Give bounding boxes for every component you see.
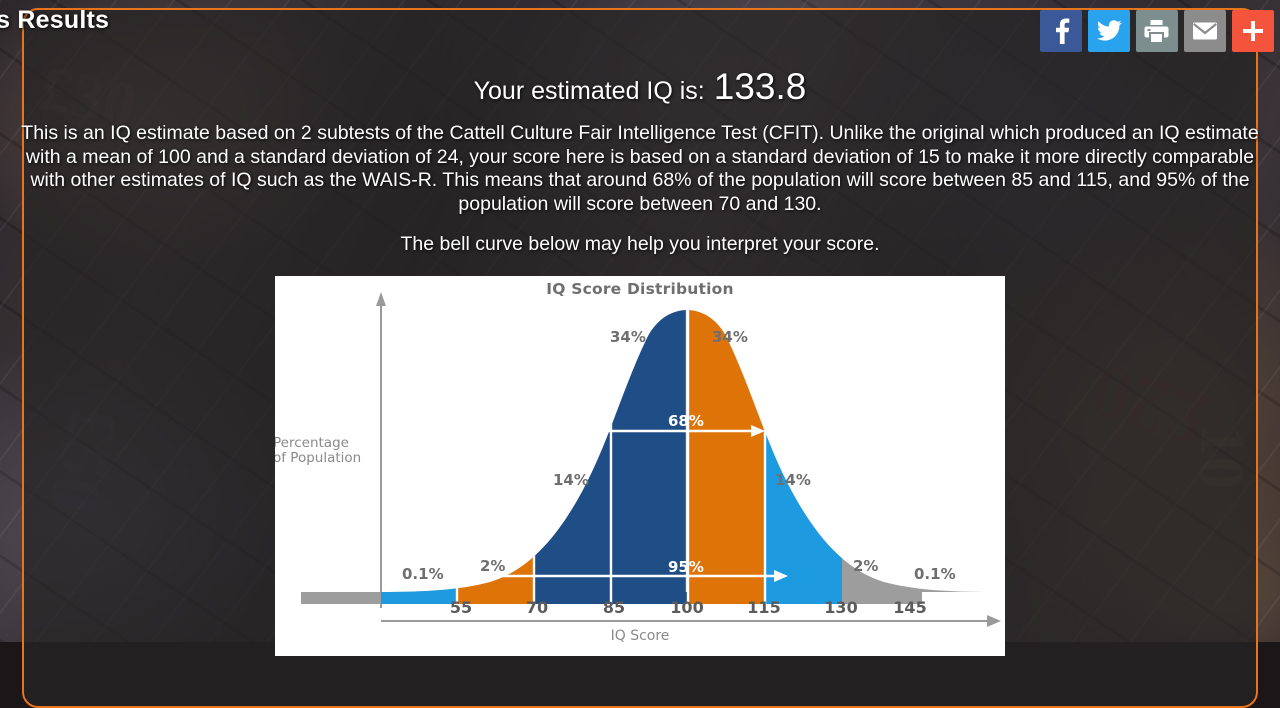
label-14-right: 14%	[775, 471, 811, 489]
label-34-right: 34%	[712, 328, 748, 346]
x-tick-100: 100	[657, 598, 717, 617]
score-value: 133.8	[714, 66, 807, 107]
share-more-button[interactable]	[1232, 10, 1274, 52]
iq-distribution-chart: IQ Score Distribution Percentage of Popu…	[275, 276, 1005, 656]
share-twitter-button[interactable]	[1088, 10, 1130, 52]
band-85-100	[534, 296, 611, 596]
label-68: 68%	[668, 412, 704, 430]
score-label: Your estimated IQ is:	[474, 77, 705, 105]
x-tick-55: 55	[431, 598, 491, 617]
share-facebook-button[interactable]	[1040, 10, 1082, 52]
page-title: 's Results	[0, 6, 109, 35]
x-tick-145: 145	[880, 598, 940, 617]
plus-icon	[1241, 19, 1265, 43]
share-bar	[1040, 10, 1274, 52]
label-34-left: 34%	[610, 328, 646, 346]
label-14-left: 14%	[553, 471, 589, 489]
score-line: Your estimated IQ is:133.8	[0, 66, 1280, 108]
x-tick-70: 70	[507, 598, 567, 617]
label-95: 95%	[668, 558, 704, 576]
band-70-85	[457, 296, 534, 596]
band-below-55	[335, 296, 441, 596]
hint-text: The bell curve below may help you interp…	[0, 233, 1280, 256]
label-2-left: 2%	[480, 557, 505, 575]
x-tick-85: 85	[584, 598, 644, 617]
band-above-145	[842, 296, 1002, 596]
printer-icon	[1144, 19, 1170, 43]
envelope-icon	[1192, 21, 1218, 41]
band-130-145	[765, 296, 842, 596]
facebook-icon	[1049, 18, 1073, 44]
distribution-bands	[335, 296, 1002, 596]
label-01-right: 0.1%	[914, 565, 956, 583]
y-axis	[376, 292, 386, 608]
x-tick-130: 130	[811, 598, 871, 617]
description-text: This is an IQ estimate based on 2 subtes…	[10, 122, 1270, 216]
share-print-button[interactable]	[1136, 10, 1178, 52]
share-email-button[interactable]	[1184, 10, 1226, 52]
x-tick-115: 115	[734, 598, 794, 617]
label-01-left: 0.1%	[402, 565, 444, 583]
twitter-icon	[1096, 19, 1122, 43]
band-55-70	[381, 296, 457, 596]
label-2-right: 2%	[853, 557, 878, 575]
